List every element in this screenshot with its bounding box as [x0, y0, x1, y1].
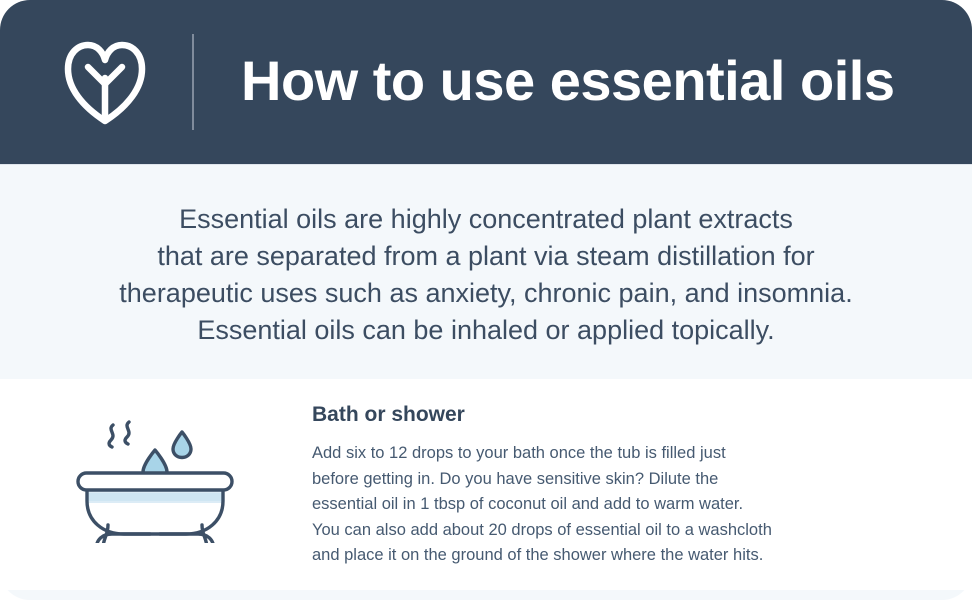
heart-leaf-logo-icon	[62, 38, 148, 126]
water-droplet-small-icon	[173, 432, 191, 458]
intro-band: Essential oils are highly concentrated p…	[0, 164, 972, 379]
page-title: How to use essential oils	[241, 48, 921, 114]
infographic-card: How to use essential oils Essential oils…	[0, 0, 972, 600]
next-section-band	[0, 590, 972, 600]
section-heading: Bath or shower	[312, 401, 912, 429]
section-bath-or-shower: Bath or shower Add six to 12 drops to yo…	[0, 379, 972, 590]
section-paragraph: Add six to 12 drops to your bath once th…	[312, 441, 912, 569]
intro-paragraph: Essential oils are highly concentrated p…	[46, 201, 926, 349]
page-header: How to use essential oils	[0, 0, 972, 164]
header-divider	[192, 34, 194, 130]
section-text-block: Bath or shower Add six to 12 drops to yo…	[312, 401, 912, 569]
bathtub-icon	[72, 417, 238, 543]
